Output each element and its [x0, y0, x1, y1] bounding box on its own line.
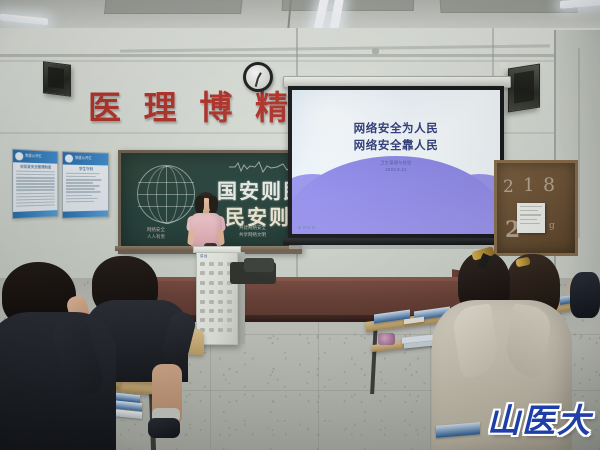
ceiling-panel	[439, 0, 577, 13]
slide-text-block: 网络安全为人民 网络安全靠人民 卫生管理与检验 2023.9.12	[292, 120, 500, 174]
slide-title-line1: 网络安全为人民	[292, 120, 500, 137]
projection-screen: 网络安全为人民 网络安全靠人民 卫生管理与检验 2023.9.12	[288, 86, 504, 238]
presenter-hair-side	[209, 196, 218, 214]
classroom-photo: 医 理 博 精 制度公开栏 实验室安全管理制度 制度公	[0, 0, 600, 450]
presentation-slide: 网络安全为人民 网络安全靠人民 卫生管理与检验 2023.9.12	[292, 90, 500, 234]
motto-char-3: 博	[199, 91, 232, 124]
poster-header: 制度公开栏	[63, 152, 108, 165]
watermark: 山医大	[487, 394, 592, 442]
conduit-junction-box	[372, 48, 379, 54]
podium-vent-holes	[200, 262, 232, 334]
poster-footer	[13, 210, 57, 218]
bulletin-board: 2 1 8 2 u g	[494, 160, 578, 256]
bulletin-chalk-mark: 8	[543, 174, 555, 196]
wall-speaker-icon	[43, 61, 71, 96]
wall-seam	[578, 48, 580, 238]
poster-seal-icon	[65, 154, 73, 162]
poster-body-lines	[63, 173, 108, 203]
wall-poster: 制度公开栏 实验室安全管理制度	[12, 149, 58, 220]
stage-platform-highlight	[148, 277, 458, 281]
bulletin-chalk-mark: g	[549, 221, 555, 231]
wall-motto: 医 理 博 精	[88, 86, 288, 128]
chair-back	[244, 258, 274, 272]
bulletin-chalk-mark: 1	[523, 175, 534, 196]
poster-body-lines	[13, 171, 57, 208]
slide-corner-marks	[298, 226, 315, 229]
poster-title: 学生守则	[63, 167, 108, 173]
wall-speaker-icon	[508, 63, 540, 112]
wall-poster: 制度公开栏 学生守则	[62, 151, 109, 219]
student-shoe	[148, 418, 180, 438]
motto-char-1: 医	[88, 91, 121, 124]
screen-lower-trim	[289, 245, 503, 249]
poster-seal-icon	[15, 152, 23, 161]
wall-trim	[0, 54, 600, 57]
screen-bottom-bar	[283, 238, 509, 245]
slide-subtitle: 卫生管理与检验	[292, 159, 500, 166]
ceiling-panel	[282, 0, 415, 11]
motto-char-2: 理	[144, 91, 177, 124]
student-hair	[570, 272, 600, 318]
slide-title-line2: 网络安全靠人民	[292, 137, 500, 154]
presenter	[186, 192, 226, 254]
ceiling-panel	[104, 0, 243, 14]
poster-footer	[63, 210, 108, 217]
podium-top-surface	[193, 246, 241, 253]
pencil-case	[378, 333, 395, 345]
speaker-grille	[514, 70, 534, 103]
clock-face	[246, 65, 270, 89]
slide-subtitle-block: 卫生管理与检验 2023.9.12	[292, 159, 500, 173]
presenter-arm	[217, 229, 225, 246]
chalk-waveform-icon	[229, 161, 297, 173]
speaker-grille	[48, 67, 64, 89]
bulletin-notice-paper	[517, 203, 545, 233]
blackboard-note-left: 网络安全 人人有责	[147, 227, 165, 241]
poster-header: 制度公开栏	[13, 150, 57, 164]
motto-char-4: 精	[255, 91, 288, 124]
ceiling-sensor-icon	[500, 62, 507, 68]
poster-header-text: 制度公开栏	[75, 157, 92, 161]
slide-date: 2023.9.12	[292, 166, 500, 173]
wall-clock-icon	[243, 62, 273, 92]
blackboard-note-mid: 共建网络安全 共享网络文明	[239, 225, 266, 239]
poster-header-text: 制度公开栏	[25, 155, 41, 159]
bulletin-chalk-mark: 2	[503, 177, 514, 197]
stage-platform	[148, 277, 458, 317]
podium-label: 讲台	[200, 254, 208, 259]
poster-title: 实验室安全管理制度	[13, 164, 57, 170]
clock-minute-hand	[255, 78, 259, 87]
wall-trim	[0, 60, 600, 62]
